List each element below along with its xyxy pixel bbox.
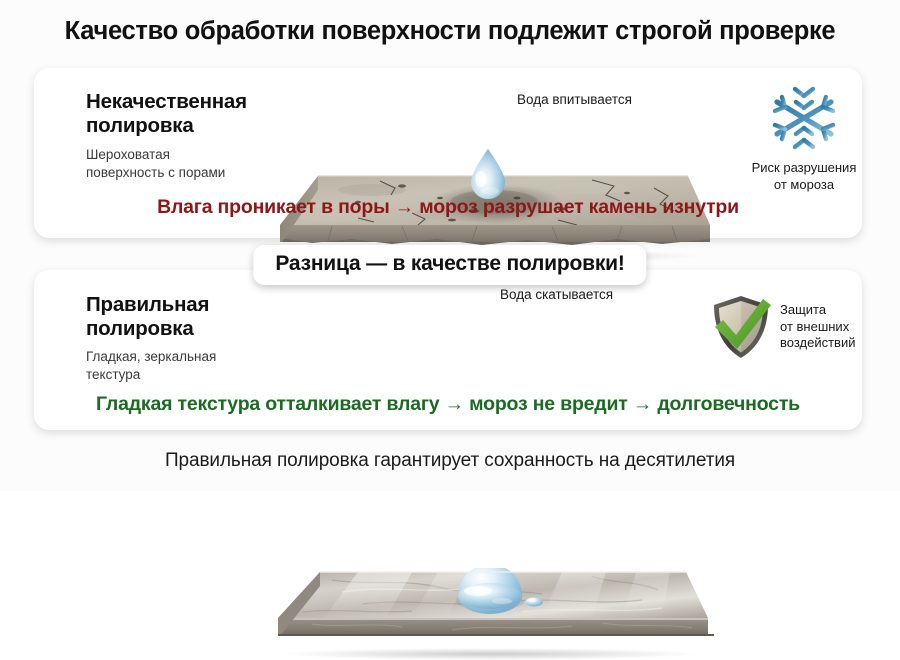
protection-label-line2: от внешних xyxy=(780,319,855,336)
protection-block: Защита от внешних воздействий xyxy=(710,294,886,360)
protection-label: Защита от внешних воздействий xyxy=(780,302,855,352)
card-good-subtitle: Гладкая, зеркальная текстура xyxy=(86,348,216,383)
card-good-subtitle-line2: текстура xyxy=(86,366,216,384)
infographic-page: Качество обработки поверхности подлежит … xyxy=(0,0,900,491)
good-conclusion-text: Гладкая текстура отталкивает влагу → мор… xyxy=(34,393,862,416)
card-bad-subtitle-line2: поверхность с порами xyxy=(86,164,225,182)
bad-conclusion-text: Влага проникает в поры → мороз разрушает… xyxy=(34,196,862,219)
card-good-heading: Правильная полировка xyxy=(86,293,209,341)
card-good-subtitle-line1: Гладкая, зеркальная xyxy=(86,348,216,366)
page-title: Качество обработки поверхности подлежит … xyxy=(0,17,900,46)
frost-risk-label: Риск разрушения от мороза xyxy=(722,160,886,193)
good-drop-caption: Вода скатывается xyxy=(500,287,613,302)
card-good-polish: Правильная полировка Гладкая, зеркальная… xyxy=(34,270,862,430)
footer-note: Правильная полировка гарантирует сохранн… xyxy=(0,450,900,472)
polished-marble-slab-illustration xyxy=(262,568,714,660)
water-drop-svg xyxy=(466,146,510,202)
difference-badge: Разница — в качестве полировки! xyxy=(253,245,646,285)
card-bad-polish: Некачественная полировка Шероховатая пов… xyxy=(34,68,862,238)
card-bad-heading: Некачественная полировка xyxy=(86,90,247,138)
protection-label-line3: воздействий xyxy=(780,335,855,352)
bad-drop-caption: Вода впитывается xyxy=(517,92,632,107)
polished-marble-slab-svg xyxy=(262,568,714,660)
card-bad-heading-line2: полировка xyxy=(86,114,247,138)
protection-label-line1: Защита xyxy=(780,302,855,319)
frost-risk-label-line1: Риск разрушения xyxy=(722,160,886,177)
snowflake-icon xyxy=(768,82,840,154)
frost-risk-block: Риск разрушения от мороза xyxy=(722,82,886,193)
card-bad-subtitle-line1: Шероховатая xyxy=(86,146,225,164)
card-good-heading-line1: Правильная xyxy=(86,293,209,317)
card-bad-subtitle: Шероховатая поверхность с порами xyxy=(86,146,225,181)
shield-check-icon xyxy=(710,294,772,360)
card-bad-heading-line1: Некачественная xyxy=(86,90,247,114)
frost-risk-label-line2: от мороза xyxy=(722,177,886,194)
card-good-heading-line2: полировка xyxy=(86,317,209,341)
